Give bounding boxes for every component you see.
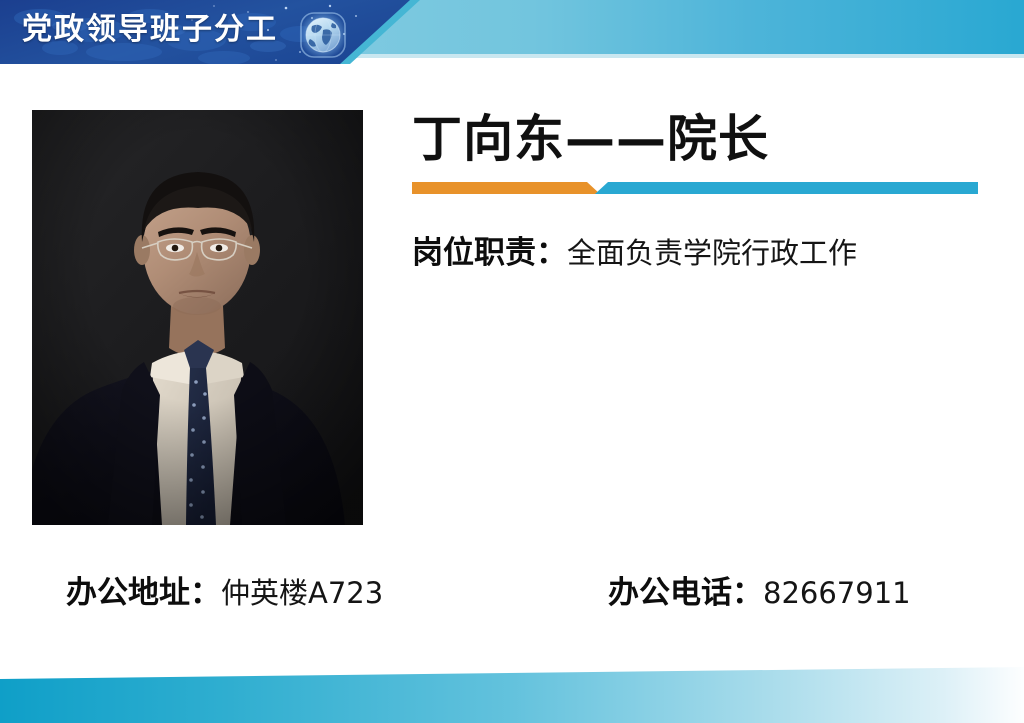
duty-line: 岗位职责：全面负责学院行政工作	[412, 233, 857, 278]
divider-cyan-segment	[595, 182, 978, 194]
footer-bar	[0, 651, 1024, 723]
office-address-value: 仲英楼A723	[221, 576, 383, 610]
divider-orange-segment	[412, 182, 600, 194]
duty-value: 全面负责学院行政工作	[567, 236, 857, 270]
globe-icon	[292, 6, 354, 64]
page-title: 丁向东——院长	[412, 108, 769, 170]
contact-info-row: 办公地址：仲英楼A723 办公电话：82667911	[0, 570, 1024, 620]
header-title: 党政领导班子分工	[22, 13, 278, 47]
office-phone-value: 82667911	[763, 576, 911, 610]
portrait-photo	[32, 110, 363, 525]
divider-bar	[412, 180, 978, 196]
office-address-block: 办公地址：仲英楼A723	[66, 570, 383, 621]
header-banner: 党政领导班子分工	[0, 0, 1024, 72]
office-phone-label: 办公电话：	[608, 575, 763, 611]
footer-gradient-shape	[0, 667, 1024, 723]
office-phone-block: 办公电话：82667911	[608, 570, 911, 621]
duty-label: 岗位职责：	[412, 235, 567, 271]
office-address-label: 办公地址：	[66, 575, 221, 611]
slide-root: 党政领导班子分工	[0, 0, 1024, 723]
